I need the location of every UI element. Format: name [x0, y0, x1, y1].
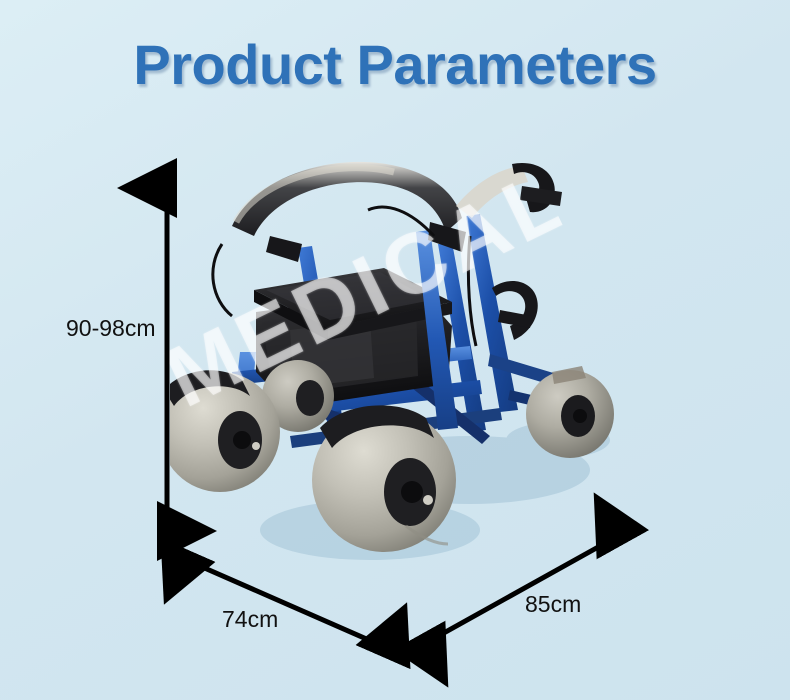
dimension-label-depth: 85cm [525, 591, 581, 618]
rollator-illustration [170, 140, 670, 600]
dimension-label-height: 90-98cm [66, 315, 155, 342]
dimension-label-width: 74cm [222, 606, 278, 633]
product-parameters-page: Product Parameters [0, 0, 790, 700]
handlebars [232, 162, 528, 236]
page-title: Product Parameters [0, 36, 790, 95]
product-photo [170, 140, 670, 600]
